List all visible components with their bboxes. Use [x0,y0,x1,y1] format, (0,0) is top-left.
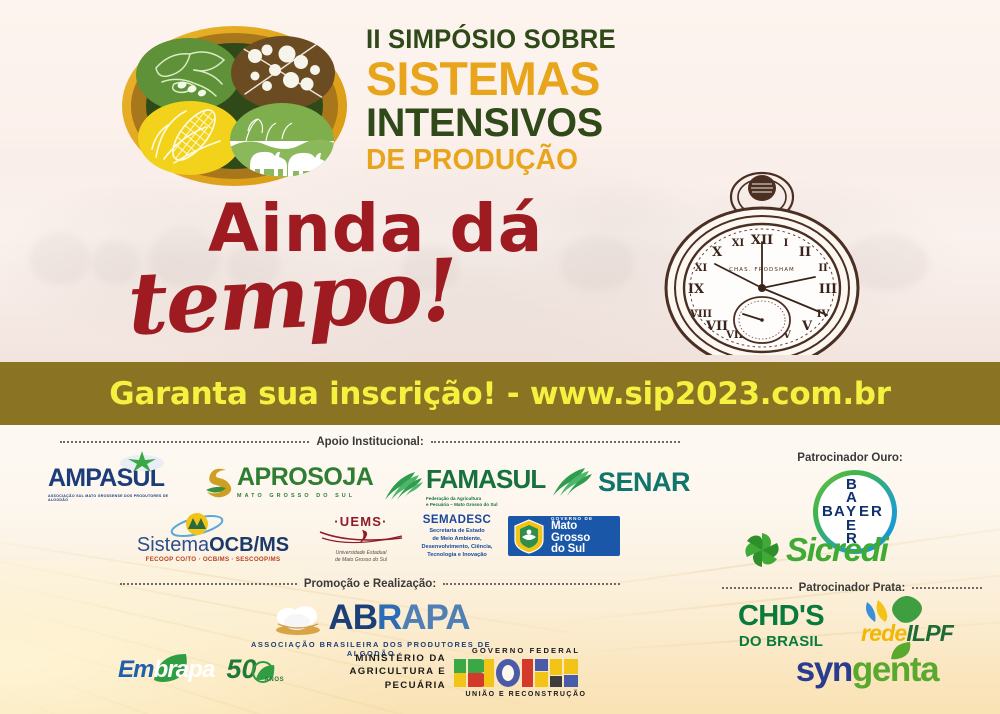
brasil-wordmark-icon [452,657,600,689]
pocket-watch-illustration: XII II III V VI VII IX X I II IV V VIII … [655,140,870,355]
famasul-subtitle: Federação da Agricultura e Pecuária – Ma… [426,496,545,508]
aprosoja-wordmark: APROSOJA [237,463,373,492]
governo-federal-top-label: GOVERNO FEDERAL [452,646,600,655]
sicredi-wordmark: Sicredi [786,531,888,569]
slogan-line-2: tempo! [126,248,458,348]
svg-text:I: I [784,238,789,249]
sponsor-logo-semadesc[interactable]: SEMADESC Secretaria de Estado de Meio Am… [398,514,516,559]
ministerio-line-1: MINISTÉRIO DA [318,652,446,665]
dotted-rule-right [443,583,620,585]
corn-quadrant-icon [138,101,242,175]
registration-cta-text[interactable]: Garanta sua inscrição! - www.sip2023.com… [109,376,890,412]
uems-subtitle: Universidade Estadual de Mato Grosso do … [318,550,404,564]
senar-leaf-icon [551,466,593,498]
event-promo-banner: II SIMPÓSIO SOBRE SISTEMAS INTENSIVOS DE… [0,0,1000,714]
sponsor-logo-uems[interactable]: ·UEMS· Universidade Estadual de Mato Gro… [318,514,404,564]
aprosoja-s-icon [200,464,234,498]
svg-text:II: II [799,245,811,260]
sponsor-logo-aprosoja[interactable]: APROSOJA MATO GROSSO DO SUL [200,463,373,499]
section-label-prata: Patrocinador Prata: [799,582,906,594]
sponsor-logo-rede-ilpf[interactable]: redeILPF [848,596,966,647]
svg-text:XI: XI [732,238,745,249]
semadesc-subtitle: Secretaria de Estado de Meio Ambiente, D… [398,527,516,559]
famasul-leaf-icon [383,470,423,502]
senar-wordmark: SENAR [598,467,690,498]
uems-swoosh-icon [318,529,404,545]
ocbms-wordmark: SistemaOCB/MS [133,535,293,555]
embrapa-wordmark: Embrapa [118,656,214,684]
registration-cta-bar[interactable]: Garanta sua inscrição! - www.sip2023.com… [0,362,1000,425]
sponsor-logo-governo-federal[interactable]: GOVERNO FEDERAL UNIÃO E RECONSTRUÇÃO [452,646,600,698]
section-header-promocao: Promoção e Realização: [120,578,620,590]
svg-text:IX: IX [688,282,705,297]
section-label-ouro: Patrocinador Ouro: [797,452,902,464]
sponsor-logo-ocbms[interactable]: SistemaOCB/MS FECOOP CO/TO · OCB/MS · SE… [133,512,293,563]
uems-wordmark: ·UEMS· [318,514,404,529]
sponsor-logo-embrapa[interactable]: Embrapa 50 ANOS [118,654,284,685]
cotton-quadrant-icon [231,36,335,110]
embrapa-anniversary-label: ANOS [264,677,284,683]
sponsor-logo-syngenta[interactable]: syngenta [762,650,972,690]
event-logo [122,26,347,186]
chds-wordmark: CHD'S [722,600,840,633]
sponsor-logo-governo-ms[interactable]: GOVERNO DE Mato Grosso do Sul [508,516,620,556]
svg-text:X: X [712,245,723,260]
dotted-rule-right [431,441,680,443]
section-header-apoio: Apoio Institucional: [60,436,680,448]
ampasul-subtitle: ASSOCIAÇÃO SUL MATO GROSSENSE DOS PRODUT… [48,494,188,502]
section-label-promocao: Promoção e Realização: [304,578,436,590]
sponsor-logo-senar[interactable]: SENAR [551,466,690,498]
sponsor-logo-chds[interactable]: CHD'S DO BRASIL [722,600,840,650]
ministerio-line-2: AGRICULTURA E [318,665,446,678]
event-title: II SIMPÓSIO SOBRE SISTEMAS INTENSIVOS DE… [366,26,642,175]
sicredi-pinwheel-icon [742,530,782,570]
governo-federal-bottom-label: UNIÃO E RECONSTRUÇÃO [452,691,600,698]
svg-text:VII: VII [705,319,728,334]
sponsor-logo-ampasul[interactable]: AMPASUL ASSOCIAÇÃO SUL MATO GROSSENSE DO… [48,464,188,502]
section-label-apoio: Apoio Institucional: [316,436,423,448]
title-line-3: INTENSIVOS [366,103,639,143]
section-header-prata: Patrocinador Prata: [722,582,982,594]
svg-text:V: V [801,319,813,334]
semadesc-wordmark: SEMADESC [398,514,516,526]
svg-text:XI: XI [695,263,708,274]
sponsor-logo-ministerio-agricultura[interactable]: MINISTÉRIO DA AGRICULTURA E PECUÁRIA [318,652,446,692]
syngenta-leaf-icon [888,641,912,661]
abrapa-wordmark: ABRAPA [328,598,469,638]
syngenta-wordmark-part1: syn [796,650,852,689]
section-header-ouro: Patrocinador Ouro: [700,452,1000,464]
svg-text:VIII: VIII [689,309,712,320]
governo-ms-line3: do Sul [551,544,593,556]
cattle-pasture-quadrant-icon [230,103,334,177]
aprosoja-subtitle: MATO GROSSO DO SUL [237,493,373,499]
ministerio-line-3: PECUÁRIA [318,679,446,692]
title-line-4: DE PRODUÇÃO [366,146,634,175]
abrapa-cotton-icon [272,600,324,636]
dotted-rule-left [722,587,792,589]
famasul-wordmark: FAMASUL [426,464,545,495]
dotted-rule-left [60,441,309,443]
ampasul-star-icon [118,450,166,472]
title-line-1: II SIMPÓSIO SOBRE [366,26,628,54]
sponsor-logo-famasul[interactable]: FAMASUL Federação da Agricultura e Pecuá… [383,464,545,508]
svg-text:II: II [818,263,828,274]
sponsor-logo-sicredi[interactable]: Sicredi [742,530,888,570]
title-line-2: SISTEMAS [366,56,639,102]
chds-subtitle: DO BRASIL [722,633,840,650]
dotted-rule-right [912,587,982,589]
svg-text:III: III [819,282,837,297]
ms-coat-of-arms-icon [512,518,546,554]
dotted-rule-left [120,583,297,585]
ocbms-subtitle: FECOOP CO/TO · OCB/MS · SESCOOP/MS [133,556,293,563]
